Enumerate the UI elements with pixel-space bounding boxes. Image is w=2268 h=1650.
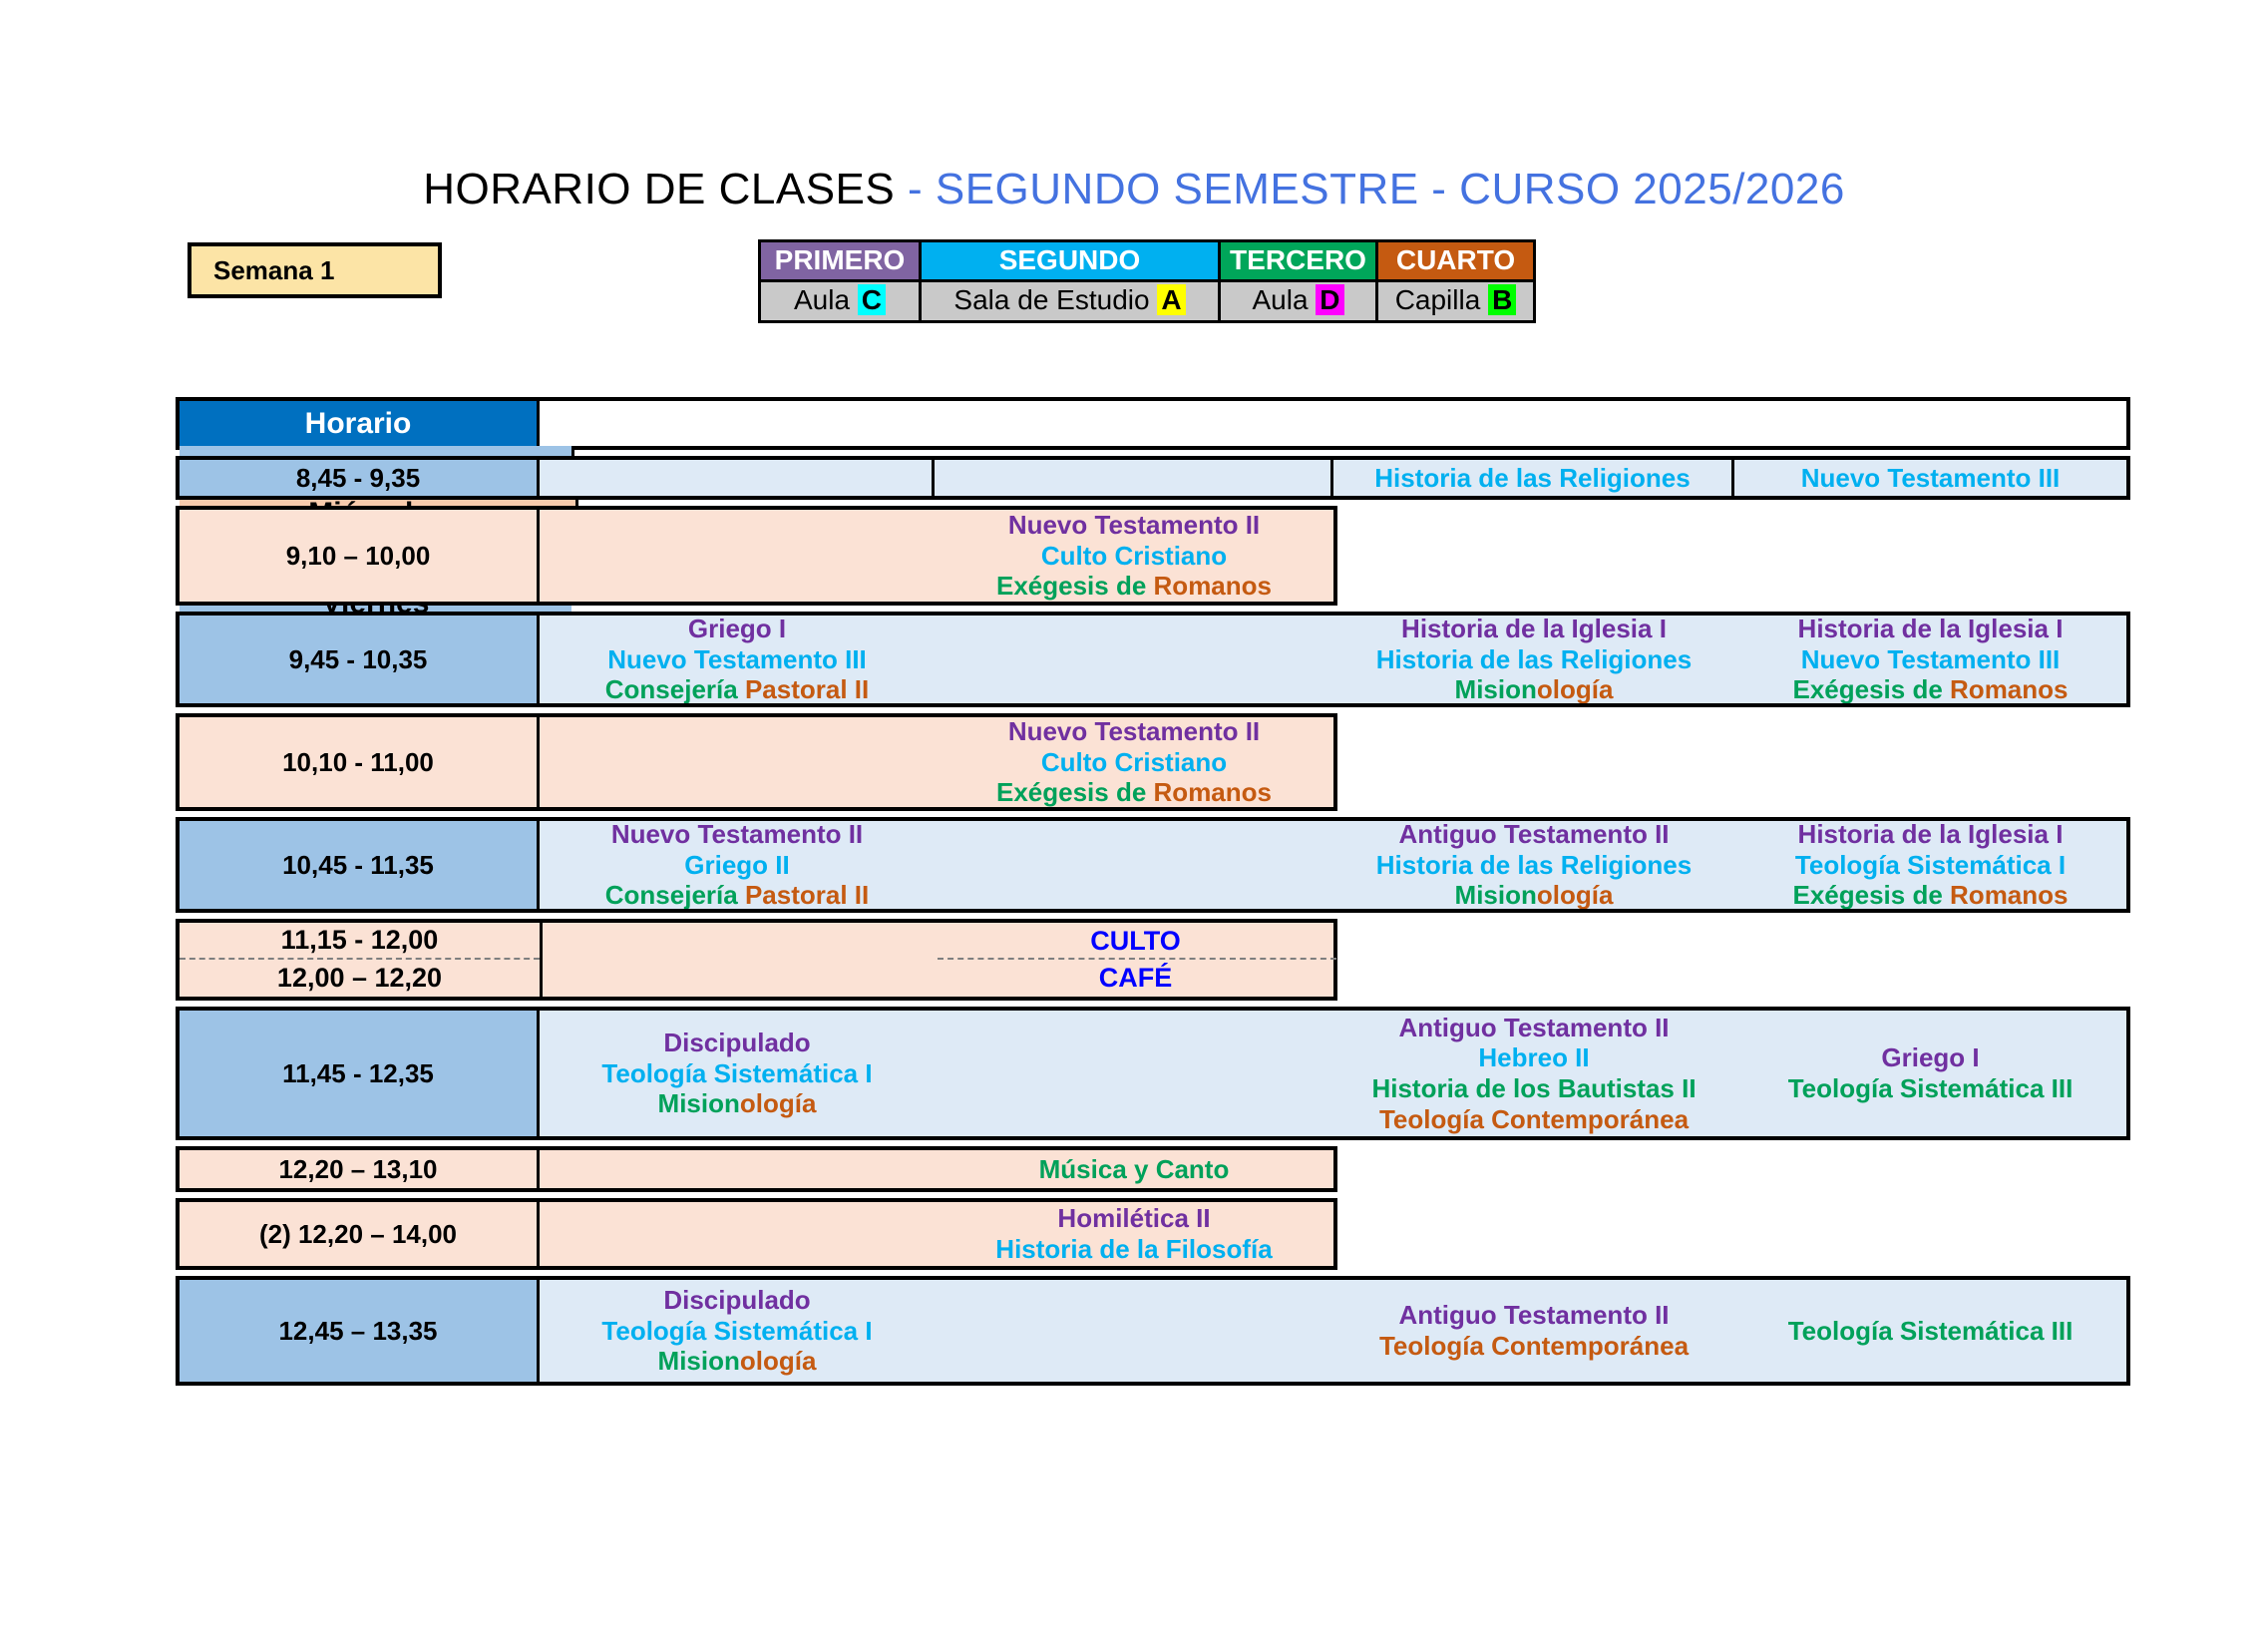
subject-part-orange: Romanos <box>1154 777 1272 807</box>
cell-miercoles <box>935 1011 1333 1136</box>
row-time: 9,10 – 10,00 <box>180 510 540 602</box>
row-time: 8,45 - 9,35 <box>180 460 540 496</box>
cell-martes-miercoles-merged: Nuevo Testamento II Culto Cristiano Exég… <box>540 510 1333 602</box>
subject: Historia de la Iglesia I <box>1798 821 2064 850</box>
row-time: 9,45 - 10,35 <box>180 616 540 703</box>
table-row: 10,10 - 11,00 Nuevo Testamento II Culto … <box>176 713 1337 811</box>
dashed-separator <box>938 958 1336 960</box>
culto-row: CULTO <box>543 923 1333 960</box>
row-time: 11,45 - 12,35 <box>180 1011 540 1136</box>
cell-martes-miercoles-merged: Homilética II Historia de la Filosofía <box>540 1202 1333 1266</box>
subject: Nuevo Testamento III <box>1801 463 2061 494</box>
subject: Nuevo Testamento III <box>607 644 867 675</box>
cell-viernes: Historia de la Iglesia I Teología Sistem… <box>1734 821 2126 909</box>
subject: Griego II <box>684 850 789 881</box>
subject: Misionología <box>658 1088 817 1119</box>
subject: Nuevo Testamento II <box>935 510 1333 541</box>
subject: Teología Sistemática I <box>601 1316 872 1347</box>
subject: Discipulado <box>663 1028 810 1058</box>
row-time-top: 11,15 - 12,00 <box>180 923 540 960</box>
legend-course-segundo: SEGUNDO <box>922 242 1221 279</box>
cell-jueves: Historia de la Iglesia I Historia de las… <box>1333 616 1734 703</box>
subject: Nuevo Testamento II <box>935 717 1333 747</box>
subject-part-green: Exégesis de <box>1792 674 1950 703</box>
subject: Antiguo Testamento II <box>1398 1013 1669 1043</box>
page-title-black: HORARIO DE CLASES <box>423 165 908 213</box>
subject: Historia de las Religiones <box>1376 644 1692 675</box>
row-time-bottom: 12,00 – 12,20 <box>180 960 540 997</box>
subject-part-green: Mision <box>658 1346 740 1376</box>
legend-room-segundo-code: A <box>1157 284 1185 315</box>
page-title: HORARIO DE CLASES - SEGUNDO SEMESTRE - C… <box>0 165 2268 214</box>
cell-miercoles <box>935 821 1333 909</box>
row-time: 12,45 – 13,35 <box>180 1280 540 1382</box>
subject: Historia de las Religiones <box>1376 850 1692 881</box>
legend-course-names: PRIMERO SEGUNDO TERCERO CUARTO <box>761 242 1533 279</box>
cell-martes: Griego I Nuevo Testamento III Consejería… <box>540 616 935 703</box>
subject: Discipulado <box>663 1285 810 1316</box>
cell-viernes: Historia de la Iglesia I Nuevo Testament… <box>1734 616 2126 703</box>
schedule-table: Horario Martes Miércoles Jueves Viernes … <box>176 397 2130 1386</box>
subject-part-green: Exégesis de <box>996 777 1154 807</box>
cell-miercoles <box>935 1280 1333 1382</box>
subject: Teología Contemporánea <box>1379 1104 1689 1135</box>
subject-part-orange: Romanos <box>1950 880 2068 909</box>
subject-part-green: Mision <box>1455 674 1537 703</box>
subject-part-orange: ología <box>1537 674 1614 703</box>
cell-martes <box>540 460 935 496</box>
legend-course-primero: PRIMERO <box>761 242 922 279</box>
cell-miercoles <box>935 616 1333 703</box>
subject: Nuevo Testamento II <box>611 821 863 850</box>
column-header-horario: Horario <box>180 401 540 446</box>
subject: Misionología <box>1455 674 1614 703</box>
subject: Consejería Pastoral II <box>605 880 869 909</box>
cell-martes: Nuevo Testamento II Griego II Consejería… <box>540 821 935 909</box>
subject: Homilética II <box>935 1203 1333 1234</box>
cell-jueves: Antiguo Testamento II Teología Contempor… <box>1333 1280 1734 1382</box>
cafe-row: CAFÉ <box>543 960 1333 997</box>
table-row: 12,20 – 13,10 Música y Canto <box>176 1146 1337 1192</box>
page-title-blue: - SEGUNDO SEMESTRE - CURSO 2025/2026 <box>908 165 1845 213</box>
legend-course-cuarto: CUARTO <box>1378 242 1533 279</box>
subject: Culto Cristiano <box>935 541 1333 572</box>
subject-part-green: Consejería <box>605 674 745 703</box>
cell-martes: Discipulado Teología Sistemática I Misio… <box>540 1280 935 1382</box>
cell-viernes: Nuevo Testamento III <box>1734 460 2126 496</box>
subject: Misionología <box>1455 880 1614 909</box>
legend-room-tercero-code: D <box>1316 284 1343 315</box>
subject: Historia de las Religiones <box>1374 463 1690 494</box>
row-time: 10,10 - 11,00 <box>180 717 540 807</box>
subject-part-green: Mision <box>1455 880 1537 909</box>
event-cafe: CAFÉ <box>938 963 1333 994</box>
table-row: 10,45 - 11,35 Nuevo Testamento II Griego… <box>176 817 2130 913</box>
row-time: (2) 12,20 – 14,00 <box>180 1202 540 1266</box>
cell-miercoles <box>935 460 1333 496</box>
subject: Historia de la Filosofía <box>935 1234 1333 1265</box>
legend-rooms: Aula C Sala de Estudio A Aula D Capilla … <box>761 279 1533 319</box>
row-time: 10,45 - 11,35 <box>180 821 540 909</box>
subject: Hebreo II <box>1478 1042 1589 1073</box>
event-culto: CULTO <box>938 926 1333 957</box>
cell-martes-miercoles-merged: Nuevo Testamento II Culto Cristiano Exég… <box>540 717 1333 807</box>
cell-viernes: Teología Sistemática III <box>1734 1280 2126 1382</box>
subject: Música y Canto <box>935 1154 1333 1185</box>
subject: Exégesis de Romanos <box>935 777 1333 807</box>
subject-part-orange: Pastoral II <box>745 880 869 909</box>
legend-room-segundo-name: Sala de Estudio <box>953 284 1149 315</box>
subject-part-green: Exégesis de <box>1792 880 1950 909</box>
row-time: 12,20 – 13,10 <box>180 1150 540 1188</box>
subject: Exégesis de Romanos <box>1792 880 2068 909</box>
subject-part-orange: Romanos <box>1950 674 2068 703</box>
legend-room-cuarto: Capilla B <box>1378 282 1533 319</box>
cell-jueves: Antiguo Testamento II Hebreo II Historia… <box>1333 1011 1734 1136</box>
subject: Historia de la Iglesia I <box>1798 616 2064 644</box>
legend-room-tercero: Aula D <box>1221 282 1378 319</box>
table-row-culto-cafe: 11,15 - 12,00 12,00 – 12,20 CULTO CAFÉ <box>176 919 1337 1001</box>
legend-room-primero-name: Aula <box>794 284 850 315</box>
subject: Exégesis de Romanos <box>1792 674 2068 703</box>
subject-part-orange: ología <box>740 1346 817 1376</box>
cell-martes-miercoles-merged: Música y Canto <box>540 1150 1333 1188</box>
cell-martes: Discipulado Teología Sistemática I Misio… <box>540 1011 935 1136</box>
subject: Teología Sistemática I <box>1795 850 2066 881</box>
subject: Teología Sistemática III <box>1788 1073 2074 1104</box>
subject: Historia de los Bautistas II <box>1371 1073 1696 1104</box>
subject: Misionología <box>658 1346 817 1377</box>
legend-room-tercero-name: Aula <box>1252 284 1308 315</box>
subject: Exégesis de Romanos <box>935 571 1333 602</box>
subject: Teología Sistemática III <box>1788 1316 2074 1347</box>
subject: Griego I <box>688 616 786 644</box>
week-badge: Semana 1 <box>188 242 442 298</box>
table-row: 9,45 - 10,35 Griego I Nuevo Testamento I… <box>176 612 2130 707</box>
course-legend: PRIMERO SEGUNDO TERCERO CUARTO Aula C Sa… <box>758 239 1536 323</box>
legend-room-primero: Aula C <box>761 282 922 319</box>
legend-room-primero-code: C <box>858 284 886 315</box>
culto-time-column: 11,15 - 12,00 12,00 – 12,20 <box>180 923 540 997</box>
subject: Griego I <box>1881 1042 1979 1073</box>
cell-viernes: Griego I Teología Sistemática III <box>1734 1011 2126 1136</box>
week-badge-label: Semana 1 <box>213 255 334 286</box>
subject-part-orange: ología <box>740 1088 817 1118</box>
table-row: 12,45 – 13,35 Discipulado Teología Siste… <box>176 1276 2130 1386</box>
cell-jueves: Historia de las Religiones <box>1333 460 1734 496</box>
subject: Teología Contemporánea <box>1379 1331 1689 1362</box>
subject-part-green: Mision <box>658 1088 740 1118</box>
subject: Nuevo Testamento III <box>1801 644 2061 675</box>
subject: Antiguo Testamento II <box>1398 1300 1669 1331</box>
subject: Historia de la Iglesia I <box>1401 616 1667 644</box>
subject-part-green: Consejería <box>605 880 745 909</box>
legend-course-tercero: TERCERO <box>1221 242 1378 279</box>
subject: Teología Sistemática I <box>601 1058 872 1089</box>
table-header-row: Horario Martes Miércoles Jueves Viernes <box>176 397 2130 450</box>
legend-room-cuarto-code: B <box>1488 284 1516 315</box>
subject-part-green: Exégesis de <box>996 571 1154 601</box>
table-row: 11,45 - 12,35 Discipulado Teología Siste… <box>176 1007 2130 1140</box>
subject: Antiguo Testamento II <box>1398 821 1669 850</box>
table-row: (2) 12,20 – 14,00 Homilética II Historia… <box>176 1198 1337 1270</box>
table-row: 9,10 – 10,00 Nuevo Testamento II Culto C… <box>176 506 1337 606</box>
subject-part-orange: Romanos <box>1154 571 1272 601</box>
subject: Culto Cristiano <box>935 747 1333 778</box>
subject: Consejería Pastoral II <box>605 674 869 703</box>
subject-part-orange: ología <box>1537 880 1614 909</box>
legend-room-cuarto-name: Capilla <box>1395 284 1481 315</box>
schedule-page: HORARIO DE CLASES - SEGUNDO SEMESTRE - C… <box>0 0 2268 1650</box>
cell-martes-miercoles-merged: CULTO CAFÉ <box>540 923 1333 997</box>
cell-jueves: Antiguo Testamento II Historia de las Re… <box>1333 821 1734 909</box>
legend-room-segundo: Sala de Estudio A <box>922 282 1221 319</box>
table-row: 8,45 - 9,35 Historia de las Religiones N… <box>176 456 2130 500</box>
subject-part-orange: Pastoral II <box>745 674 869 703</box>
